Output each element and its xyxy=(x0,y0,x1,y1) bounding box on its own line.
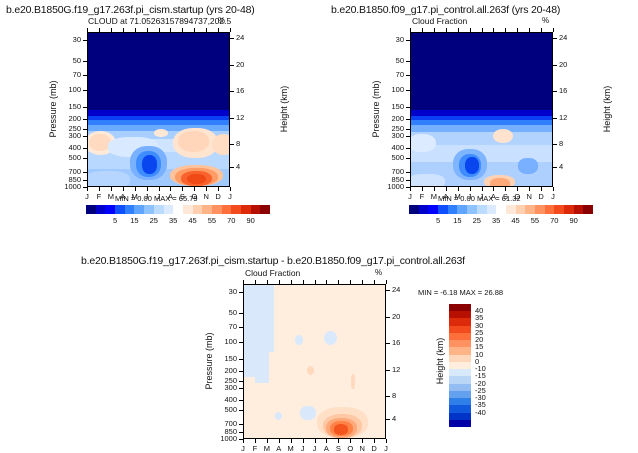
colorbar-tick-label: 35 xyxy=(163,216,183,225)
y2-tick-label: 16 xyxy=(559,86,581,95)
x-tickmark-bottom xyxy=(470,187,471,191)
y2-axis-label: Height (km) xyxy=(435,313,445,409)
x-tickmark-bottom xyxy=(267,439,268,443)
y-tickmark xyxy=(239,388,243,389)
colorbar-swatch xyxy=(448,205,458,214)
x-tick-label: J xyxy=(224,192,236,201)
y2-tickmark xyxy=(553,118,557,119)
x-tick-label: J xyxy=(464,192,476,201)
y2-tickmark xyxy=(386,290,390,291)
x-tickmark-top xyxy=(206,28,207,32)
y-tickmark xyxy=(239,381,243,382)
x-tickmark-top xyxy=(99,28,100,32)
x-tick-label: J xyxy=(153,192,165,201)
x-tick-label: M xyxy=(261,444,273,453)
y-tickmark xyxy=(406,40,410,41)
y-tickmark xyxy=(83,180,87,181)
colorbar-swatch xyxy=(212,205,222,214)
y2-tickmark xyxy=(553,144,557,145)
y-tick-label: 1000 xyxy=(53,182,81,191)
minmax-difference: MIN = -6.18 MAX = 26.88 xyxy=(418,288,503,297)
x-tickmark-bottom xyxy=(147,187,148,191)
x-tick-label: S xyxy=(499,192,511,201)
x-tickmark-bottom xyxy=(338,439,339,443)
x-tick-label: D xyxy=(368,444,380,453)
x-tickmark-top xyxy=(517,28,518,32)
colorbar-swatch xyxy=(583,205,593,214)
y-axis-label: Pressure (mb) xyxy=(48,59,58,159)
x-tickmark-bottom xyxy=(111,187,112,191)
x-tickmark-top xyxy=(362,280,363,284)
x-tickmark-top xyxy=(267,280,268,284)
x-tick-label: F xyxy=(93,192,105,201)
y-tickmark xyxy=(406,107,410,108)
x-tickmark-bottom xyxy=(434,187,435,191)
x-tickmark-bottom xyxy=(362,439,363,443)
y-tickmark xyxy=(406,136,410,137)
x-tickmark-bottom xyxy=(194,187,195,191)
colorbar-tick-label: 45 xyxy=(183,216,203,225)
colorbar-swatch xyxy=(449,369,471,376)
colorbar-swatch xyxy=(554,205,564,214)
colorbar-swatch xyxy=(449,318,471,325)
y2-tick-label: 24 xyxy=(392,285,414,294)
panel-title-pi-control: b.e20.B1850.f09_g17.pi_control.all.263f … xyxy=(331,4,560,16)
y-axis-label: Pressure (mb) xyxy=(204,311,214,411)
colorbar-swatch xyxy=(154,205,164,214)
x-tick-label: M xyxy=(452,192,464,201)
colorbar-tick-label: 55 xyxy=(525,216,545,225)
colorbar-swatch xyxy=(449,391,471,398)
y-tickmark xyxy=(83,75,87,76)
colorbar-swatch xyxy=(125,205,135,214)
colorbar-tick-label: 15 xyxy=(447,216,467,225)
y-tickmark xyxy=(83,158,87,159)
y2-tickmark xyxy=(553,38,557,39)
x-tickmark-top xyxy=(87,28,88,32)
colorbar-swatch xyxy=(449,355,471,362)
y2-axis-label: Height (km) xyxy=(279,61,289,157)
y2-tickmark xyxy=(230,144,234,145)
colorbar-swatch xyxy=(173,205,183,214)
plot-area-difference xyxy=(243,284,386,439)
x-tick-label: M xyxy=(105,192,117,201)
colorbar-swatch xyxy=(506,205,516,214)
colorbar-swatch xyxy=(487,205,497,214)
x-tick-label: D xyxy=(212,192,224,201)
x-tickmark-bottom xyxy=(374,439,375,443)
y2-tick-label: 20 xyxy=(559,60,581,69)
colorbar-swatch xyxy=(457,205,467,214)
colorbar-tick-label: 55 xyxy=(202,216,222,225)
x-tickmark-bottom xyxy=(350,439,351,443)
x-tickmark-top xyxy=(255,280,256,284)
x-tickmark-top xyxy=(182,28,183,32)
colorbar-swatch xyxy=(409,205,419,214)
panel-title-difference: b.e20.B1850G.f19_g17.263f.pi_cism.startu… xyxy=(81,255,465,267)
colorbar-swatch xyxy=(105,205,115,214)
x-tick-label: A xyxy=(273,444,285,453)
x-tickmark-bottom xyxy=(230,187,231,191)
x-tick-label: J xyxy=(547,192,559,201)
x-tick-label: J xyxy=(309,444,321,453)
x-tickmark-top xyxy=(553,28,554,32)
colorbar-tick-label: 25 xyxy=(467,216,487,225)
y-tickmark xyxy=(83,119,87,120)
y-tick-label: 30 xyxy=(376,35,404,44)
x-tickmark-top xyxy=(111,28,112,32)
y2-tick-label: 8 xyxy=(236,139,258,148)
x-tickmark-bottom xyxy=(446,187,447,191)
colorbar-swatch xyxy=(564,205,574,214)
x-tick-label: J xyxy=(141,192,153,201)
y2-tick-label: 12 xyxy=(559,113,581,122)
x-tickmark-bottom xyxy=(159,187,160,191)
colorbar-swatch xyxy=(449,384,471,391)
x-tickmark-top xyxy=(315,280,316,284)
x-tickmark-top xyxy=(159,28,160,32)
colorbar-swatch xyxy=(193,205,203,214)
x-tick-label: O xyxy=(188,192,200,201)
x-tickmark-bottom xyxy=(182,187,183,191)
x-tickmark-top xyxy=(374,280,375,284)
y-tickmark xyxy=(83,129,87,130)
x-tickmark-bottom xyxy=(529,187,530,191)
panel-subtitle-cism-startup: CLOUD at 71.05263157894737,202.5 xyxy=(88,16,231,26)
colorbar-swatch xyxy=(449,340,471,347)
x-tickmark-bottom xyxy=(123,187,124,191)
x-tick-label: A xyxy=(117,192,129,201)
colorbar-swatch xyxy=(428,205,438,214)
x-tickmark-top xyxy=(291,280,292,284)
colorbar-swatch xyxy=(545,205,555,214)
y2-tickmark xyxy=(386,419,390,420)
x-tickmark-bottom xyxy=(386,439,387,443)
y2-tick-label: 12 xyxy=(392,365,414,374)
x-tickmark-bottom xyxy=(458,187,459,191)
colorbar-swatch xyxy=(260,205,270,214)
y2-tick-label: 16 xyxy=(236,86,258,95)
y2-tick-label: 20 xyxy=(236,60,258,69)
x-tick-label: A xyxy=(164,192,176,201)
y-tickmark xyxy=(239,359,243,360)
colorbar-tick-label: 90 xyxy=(564,216,584,225)
x-tickmark-top xyxy=(326,280,327,284)
panel-subtitle-pi-control: Cloud Fraction xyxy=(412,16,467,26)
x-tickmark-top xyxy=(279,280,280,284)
x-tickmark-bottom xyxy=(410,187,411,191)
y-tickmark xyxy=(83,61,87,62)
colorbar-labels-cism-startup: 515253545557090 xyxy=(86,216,270,227)
y-tickmark xyxy=(239,327,243,328)
colorbar-swatch xyxy=(525,205,535,214)
colorbar-tick-label: 70 xyxy=(221,216,241,225)
x-tick-label: J xyxy=(297,444,309,453)
y2-tick-label: 8 xyxy=(392,391,414,400)
y-tickmark xyxy=(239,313,243,314)
x-tickmark-top xyxy=(147,28,148,32)
y-tickmark xyxy=(406,158,410,159)
y-tick-label: 30 xyxy=(53,35,81,44)
colorbar-swatch xyxy=(438,205,448,214)
y2-tickmark xyxy=(386,343,390,344)
y-tickmark xyxy=(406,148,410,149)
colorbar-swatch xyxy=(449,413,471,420)
y-tick-label: 1000 xyxy=(376,182,404,191)
colorbar-swatch xyxy=(449,362,471,369)
y2-tick-label: 16 xyxy=(392,338,414,347)
x-tickmark-top xyxy=(386,280,387,284)
x-tickmark-top xyxy=(529,28,530,32)
contour-field-cism-startup xyxy=(88,33,229,186)
colorbar-swatch xyxy=(449,398,471,405)
x-tick-label: S xyxy=(176,192,188,201)
colorbar-swatch xyxy=(449,311,471,318)
y2-tickmark xyxy=(553,65,557,66)
x-tickmark-top xyxy=(338,280,339,284)
y2-tick-label: 4 xyxy=(236,162,258,171)
y2-tick-label: 12 xyxy=(236,113,258,122)
y2-tickmark xyxy=(553,167,557,168)
x-tickmark-top xyxy=(135,28,136,32)
y-tickmark xyxy=(406,129,410,130)
colorbar-tick-label: 90 xyxy=(241,216,261,225)
x-tick-label: A xyxy=(440,192,452,201)
colorbar-swatch xyxy=(115,205,125,214)
x-tickmark-top xyxy=(505,28,506,32)
x-tick-label: O xyxy=(511,192,523,201)
x-tickmark-bottom xyxy=(517,187,518,191)
x-tickmark-top xyxy=(446,28,447,32)
x-tick-label: J xyxy=(81,192,93,201)
y-tickmark xyxy=(406,172,410,173)
x-tickmark-bottom xyxy=(291,439,292,443)
colorbar-swatch xyxy=(202,205,212,214)
x-tick-label: F xyxy=(249,444,261,453)
y-tickmark xyxy=(239,342,243,343)
colorbar-swatch xyxy=(496,205,506,214)
x-tickmark-top xyxy=(194,28,195,32)
x-tickmark-top xyxy=(410,28,411,32)
colorbar-swatch xyxy=(449,420,471,427)
colorbar-swatch xyxy=(86,205,96,214)
x-tick-label: F xyxy=(416,192,428,201)
x-tickmark-bottom xyxy=(553,187,554,191)
y-tickmark xyxy=(406,180,410,181)
x-tickmark-top xyxy=(218,28,219,32)
colorbar-swatch xyxy=(164,205,174,214)
x-tickmark-top xyxy=(170,28,171,32)
panel-unit-pi-control: % xyxy=(542,16,549,25)
colorbar-labels-pi-control: 515253545557090 xyxy=(409,216,593,227)
y-tickmark xyxy=(83,172,87,173)
y2-axis-label: Height (km) xyxy=(602,61,612,157)
panel-subtitle-difference: Cloud Fraction xyxy=(245,268,300,278)
x-tickmark-bottom xyxy=(135,187,136,191)
colorbar-difference xyxy=(449,304,471,427)
colorbar-swatch xyxy=(251,205,261,214)
colorbar-swatch xyxy=(574,205,584,214)
x-tick-label: A xyxy=(320,444,332,453)
x-tick-label: N xyxy=(356,444,368,453)
x-tickmark-bottom xyxy=(255,439,256,443)
y-tickmark xyxy=(406,90,410,91)
colorbar-cism-startup xyxy=(86,205,270,214)
colorbar-swatch xyxy=(449,376,471,383)
y2-tickmark xyxy=(230,38,234,39)
x-tick-label: N xyxy=(200,192,212,201)
colorbar-swatch xyxy=(477,205,487,214)
x-tickmark-bottom xyxy=(218,187,219,191)
x-tickmark-bottom xyxy=(279,439,280,443)
x-tickmark-bottom xyxy=(87,187,88,191)
x-tick-label: J xyxy=(380,444,392,453)
colorbar-tick-label: 5 xyxy=(105,216,125,225)
x-tickmark-top xyxy=(493,28,494,32)
y-tickmark xyxy=(83,107,87,108)
x-tickmark-bottom xyxy=(505,187,506,191)
x-tickmark-top xyxy=(123,28,124,32)
x-tickmark-top xyxy=(541,28,542,32)
colorbar-tick-label: 5 xyxy=(428,216,448,225)
y-tickmark xyxy=(406,61,410,62)
y2-tickmark xyxy=(386,396,390,397)
y-tickmark xyxy=(83,148,87,149)
y-tickmark xyxy=(239,371,243,372)
y2-tick-label: 24 xyxy=(236,33,258,42)
colorbar-tick-label: 45 xyxy=(506,216,526,225)
colorbar-swatch xyxy=(449,333,471,340)
x-tickmark-top xyxy=(230,28,231,32)
panel-title-cism-startup: b.e20.B1850G.f19_g17.263f.pi_cism.startu… xyxy=(6,4,255,16)
x-tickmark-bottom xyxy=(482,187,483,191)
y-tick-label: 30 xyxy=(209,287,237,296)
y-axis-label: Pressure (mb) xyxy=(371,59,381,159)
colorbar-tick-label: -40 xyxy=(475,408,486,417)
colorbar-swatch xyxy=(183,205,193,214)
x-tickmark-top xyxy=(422,28,423,32)
y2-tickmark xyxy=(230,91,234,92)
y2-tick-label: 20 xyxy=(392,312,414,321)
x-tick-label: M xyxy=(428,192,440,201)
plot-area-pi-control xyxy=(410,32,553,187)
y2-tickmark xyxy=(386,317,390,318)
x-tickmark-top xyxy=(458,28,459,32)
y-tickmark xyxy=(83,90,87,91)
x-tickmark-top xyxy=(350,280,351,284)
x-tick-label: J xyxy=(404,192,416,201)
colorbar-pi-control xyxy=(409,205,593,214)
colorbar-swatch xyxy=(449,326,471,333)
y-tickmark xyxy=(83,136,87,137)
colorbar-labels-difference: 403530252015100-10-15-20-25-30-35-40 xyxy=(473,304,499,427)
contour-field-difference xyxy=(244,285,385,438)
x-tick-label: M xyxy=(129,192,141,201)
colorbar-swatch xyxy=(231,205,241,214)
y-tickmark xyxy=(239,292,243,293)
x-tickmark-bottom xyxy=(541,187,542,191)
x-tick-label: J xyxy=(237,444,249,453)
y-tickmark xyxy=(83,40,87,41)
colorbar-tick-label: 70 xyxy=(544,216,564,225)
y2-tickmark xyxy=(386,370,390,371)
x-tickmark-top xyxy=(434,28,435,32)
colorbar-swatch xyxy=(144,205,154,214)
y2-tickmark xyxy=(553,91,557,92)
contour-field-pi-control xyxy=(411,33,552,186)
x-tick-label: A xyxy=(487,192,499,201)
panel-unit-difference: % xyxy=(375,268,382,277)
x-tickmark-bottom xyxy=(493,187,494,191)
y-tickmark xyxy=(239,400,243,401)
colorbar-swatch xyxy=(222,205,232,214)
x-tickmark-bottom xyxy=(326,439,327,443)
x-tick-label: S xyxy=(332,444,344,453)
plot-area-cism-startup xyxy=(87,32,230,187)
colorbar-swatch xyxy=(467,205,477,214)
y2-tickmark xyxy=(230,167,234,168)
colorbar-swatch xyxy=(241,205,251,214)
x-tickmark-bottom xyxy=(206,187,207,191)
colorbar-tick-label: 15 xyxy=(124,216,144,225)
x-tick-label: D xyxy=(535,192,547,201)
y2-tick-label: 4 xyxy=(559,162,581,171)
x-tickmark-top xyxy=(243,280,244,284)
colorbar-swatch xyxy=(449,304,471,311)
x-tickmark-top xyxy=(470,28,471,32)
y-tickmark xyxy=(406,119,410,120)
colorbar-tick-label: 35 xyxy=(486,216,506,225)
x-tickmark-top xyxy=(303,280,304,284)
colorbar-swatch xyxy=(449,405,471,412)
panel-unit-cism-startup: % xyxy=(218,16,225,25)
y2-tickmark xyxy=(230,118,234,119)
colorbar-swatch xyxy=(516,205,526,214)
colorbar-swatch xyxy=(96,205,106,214)
x-tickmark-bottom xyxy=(99,187,100,191)
x-tickmark-bottom xyxy=(315,439,316,443)
colorbar-tick-label: 25 xyxy=(144,216,164,225)
y-tick-label: 1000 xyxy=(209,434,237,443)
colorbar-swatch xyxy=(449,347,471,354)
colorbar-swatch xyxy=(535,205,545,214)
x-tick-label: N xyxy=(523,192,535,201)
y-tickmark xyxy=(239,410,243,411)
x-tickmark-bottom xyxy=(243,439,244,443)
y2-tick-label: 24 xyxy=(559,33,581,42)
y-tickmark xyxy=(239,432,243,433)
y2-tick-label: 8 xyxy=(559,139,581,148)
y2-tick-label: 4 xyxy=(392,414,414,423)
y2-tickmark xyxy=(230,65,234,66)
x-tickmark-bottom xyxy=(170,187,171,191)
x-tick-label: O xyxy=(344,444,356,453)
x-tick-label: J xyxy=(476,192,488,201)
x-tickmark-bottom xyxy=(303,439,304,443)
x-tickmark-top xyxy=(482,28,483,32)
x-tick-label: M xyxy=(285,444,297,453)
colorbar-swatch xyxy=(134,205,144,214)
y-tickmark xyxy=(406,75,410,76)
colorbar-swatch xyxy=(419,205,429,214)
x-tickmark-bottom xyxy=(422,187,423,191)
y-tickmark xyxy=(239,424,243,425)
